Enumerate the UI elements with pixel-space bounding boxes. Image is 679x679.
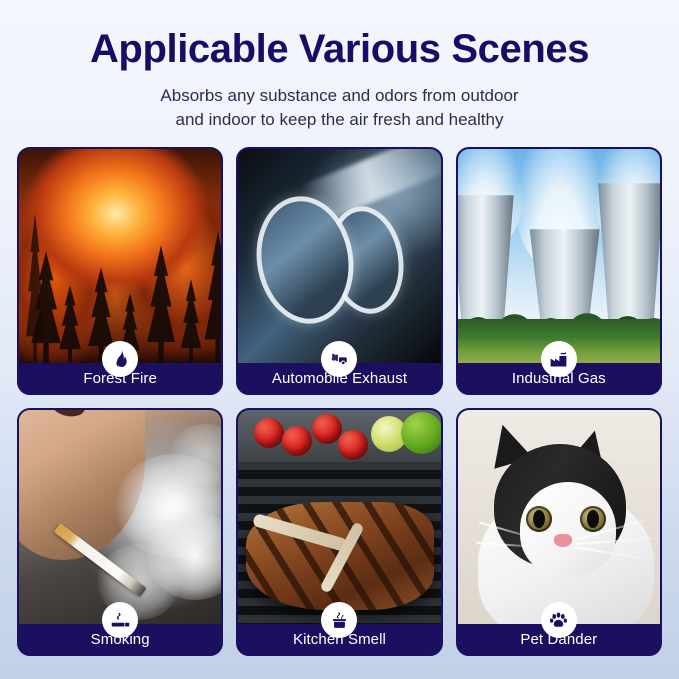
scene-card-industrial-gas[interactable]: Industrial Gas <box>456 147 662 395</box>
scene-grid: Forest Fire Automobile Exhaust <box>17 147 662 656</box>
car-exhaust-icon <box>321 341 357 377</box>
cigarette-icon <box>102 602 138 638</box>
infographic-page: Applicable Various Scenes Absorbs any su… <box>0 0 679 679</box>
scene-card-pet-dander[interactable]: Pet Dander <box>456 408 662 656</box>
scene-card-kitchen-smell[interactable]: Kitchen Smell <box>236 408 442 656</box>
page-subtitle: Absorbs any substance and odors from out… <box>0 84 679 132</box>
header: Applicable Various Scenes Absorbs any su… <box>0 0 679 132</box>
man-smoking-photo <box>19 410 221 624</box>
subtitle-line-2: and indoor to keep the air fresh and hea… <box>0 108 679 132</box>
page-title: Applicable Various Scenes <box>0 26 679 72</box>
flame-icon <box>102 341 138 377</box>
scene-card-automobile-exhaust[interactable]: Automobile Exhaust <box>236 147 442 395</box>
grilled-steak-photo <box>238 410 440 624</box>
paw-print-icon <box>541 602 577 638</box>
factory-icon <box>541 341 577 377</box>
burning-forest-photo <box>19 149 221 363</box>
subtitle-line-1: Absorbs any substance and odors from out… <box>0 84 679 108</box>
scene-card-smoking[interactable]: Smoking <box>17 408 223 656</box>
cooking-pot-icon <box>321 602 357 638</box>
tuxedo-cat-photo <box>458 410 660 624</box>
cooling-towers-photo <box>458 149 660 363</box>
scene-card-forest-fire[interactable]: Forest Fire <box>17 147 223 395</box>
car-exhaust-pipes-photo <box>238 149 440 363</box>
